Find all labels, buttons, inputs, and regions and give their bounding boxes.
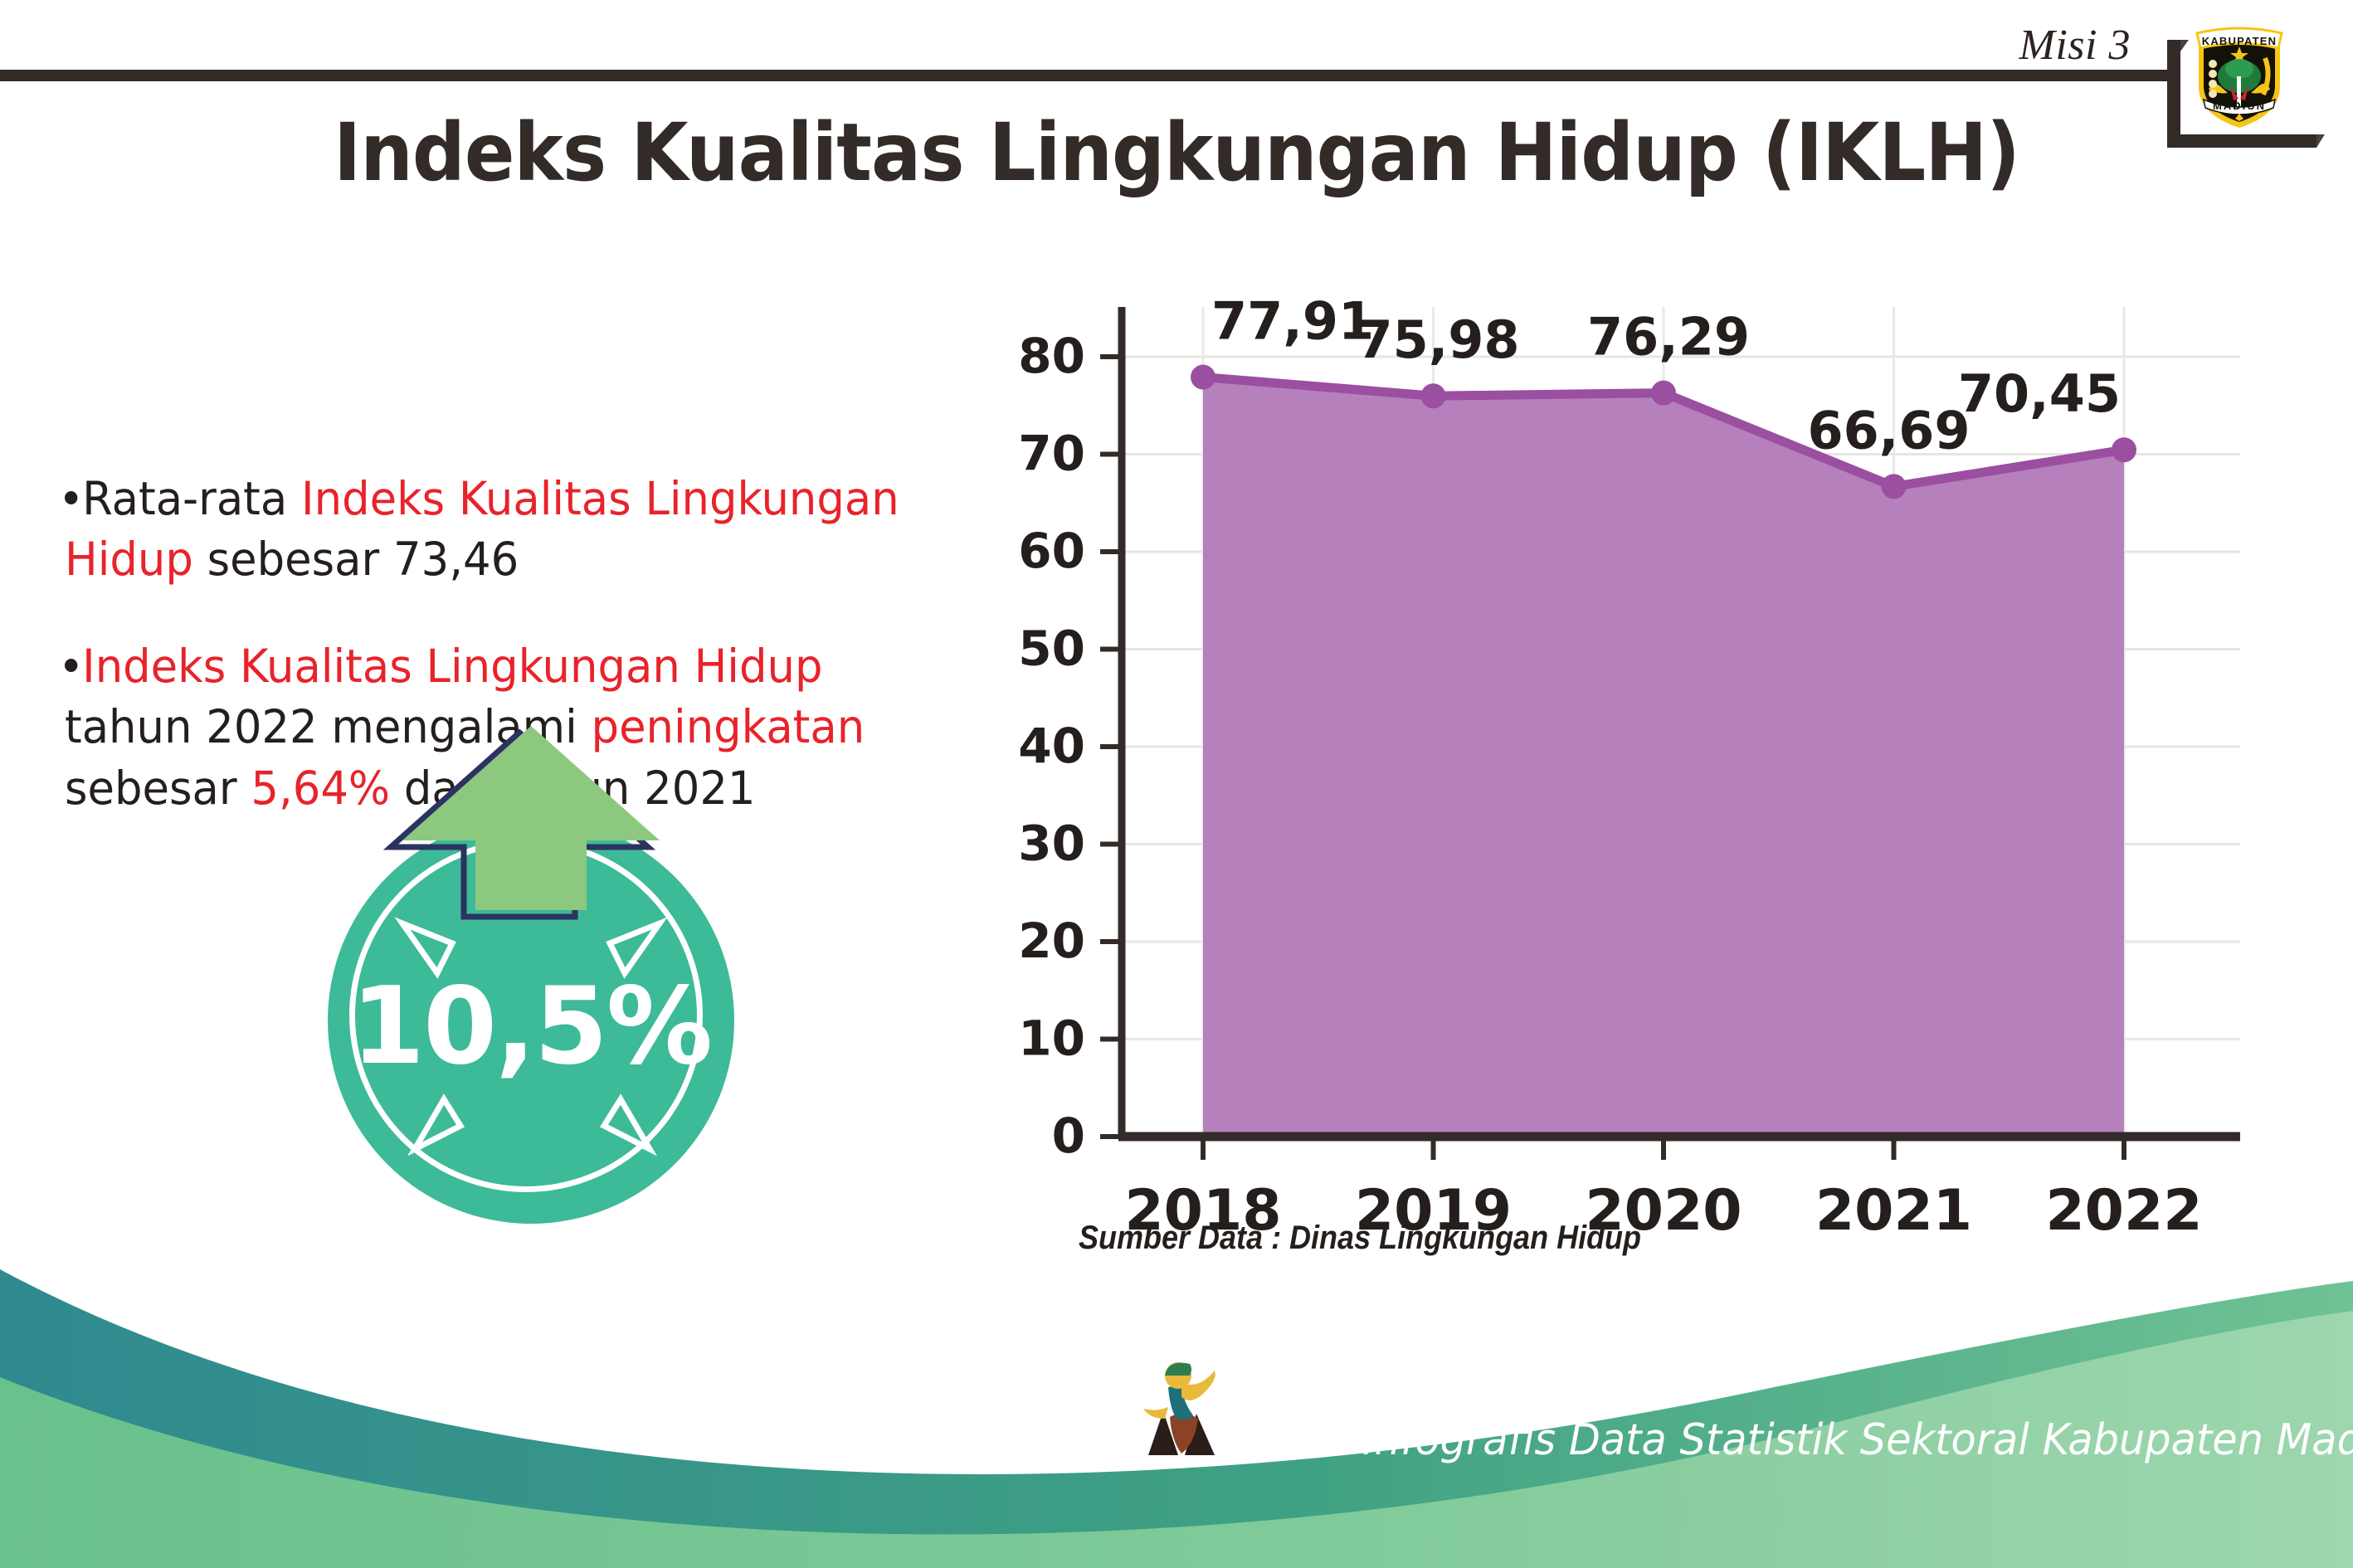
header-divider xyxy=(0,70,2170,81)
y-tick-label: 0 xyxy=(1052,1108,1085,1164)
footer-text: Media Infografis Data Statistik Sektoral… xyxy=(1226,1415,2353,1465)
data-label: 76,29 xyxy=(1587,307,1750,368)
chart-y-tick-labels: 01020304050607080 xyxy=(1018,328,1085,1164)
y-tick-label: 30 xyxy=(1018,816,1085,872)
y-tick-label: 20 xyxy=(1018,913,1085,969)
bullet-icon xyxy=(65,491,77,504)
footer: Media Infografis Data Statistik Sektoral… xyxy=(0,1253,2353,1568)
badge-value: 10,5% xyxy=(328,965,734,1088)
y-tick-label: 50 xyxy=(1018,621,1085,677)
svg-text:KABUPATEN: KABUPATEN xyxy=(2202,35,2277,47)
plain-text: Rata-rata xyxy=(82,472,301,525)
y-tick-label: 80 xyxy=(1018,328,1085,384)
x-tick-label: 2021 xyxy=(1815,1178,1972,1244)
highlight-text: Indeks Kualitas Lingkungan Hidup xyxy=(82,640,822,693)
y-tick-label: 60 xyxy=(1018,523,1085,579)
misi-label: Misi 3 xyxy=(2019,21,2131,70)
growth-badge: 10,5% xyxy=(328,817,734,1224)
chart-source-note: Sumber Data : Dinas Lingkungan Hidup xyxy=(1079,1220,1641,1257)
y-tick-label: 70 xyxy=(1018,426,1085,482)
chart-area-series xyxy=(1203,377,2124,1137)
y-tick-label: 40 xyxy=(1018,718,1085,774)
iklh-area-chart: 01020304050607080 20182019202020212022 7… xyxy=(971,290,2265,1286)
data-label: 70,45 xyxy=(1958,363,2121,424)
y-tick-label: 10 xyxy=(1018,1010,1085,1067)
data-label: 77,91 xyxy=(1211,291,1374,352)
data-label: 66,69 xyxy=(1807,400,1970,460)
data-label: 75,98 xyxy=(1357,309,1519,370)
page-title: Indeks Kualitas Lingkungan Hidup (IKLH) xyxy=(82,106,2270,199)
plain-text: sebesar xyxy=(65,762,251,815)
list-item: Rata-rata Indeks Kualitas Lingkungan Hid… xyxy=(65,469,917,590)
plain-text: sebesar 73,46 xyxy=(193,533,519,586)
bullet-icon xyxy=(65,659,77,672)
x-tick-label: 2022 xyxy=(2045,1178,2202,1244)
bps-figure-icon xyxy=(1138,1357,1230,1482)
info-text-0: Rata-rata Indeks Kualitas Lingkungan Hid… xyxy=(65,472,899,586)
